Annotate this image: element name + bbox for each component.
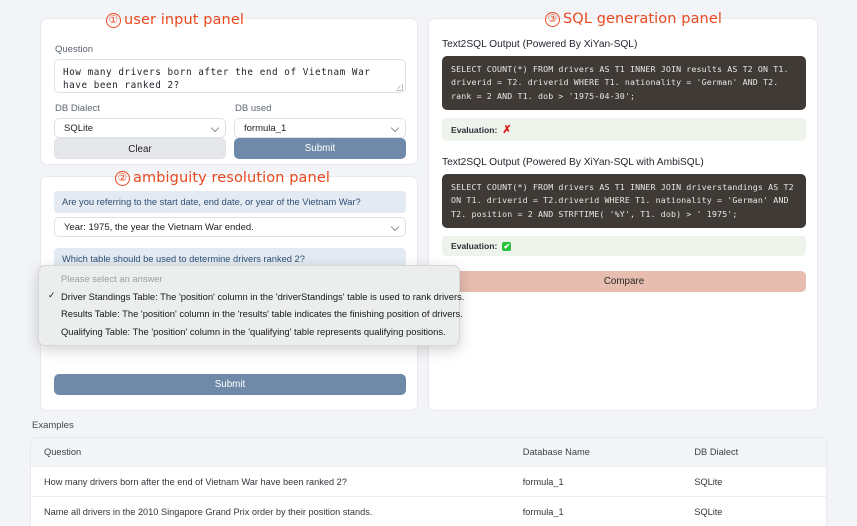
output-2-sql-code: SELECT COUNT(*) FROM drivers AS T1 INNER… [442, 174, 806, 228]
chevron-down-icon [391, 223, 399, 231]
annotation-number-3: ③ [545, 12, 560, 27]
check-mark-icon: ✓ [48, 288, 56, 304]
sql-generation-panel: Text2SQL Output (Powered By XiYan-SQL) S… [428, 18, 818, 411]
app-root: ①user input panel ②ambiguity resolution … [0, 0, 857, 526]
annotation-number-2: ② [115, 171, 130, 186]
output-1-sql-code: SELECT COUNT(*) FROM drivers AS T1 INNER… [442, 56, 806, 110]
question-input[interactable]: How many drivers born after the end of V… [54, 59, 406, 93]
db-used-select[interactable]: formula_1 [234, 118, 406, 138]
ambiguity-answer-1-select[interactable]: Year: 1975, the year the Vietnam War end… [54, 217, 406, 237]
dropdown-option-results[interactable]: Results Table: The 'position' column in … [39, 305, 459, 323]
check-icon: ✔ [502, 242, 511, 251]
examples-table: Question Database Name DB Dialect How ma… [30, 437, 827, 526]
user-input-panel: Question How many drivers born after the… [40, 18, 418, 165]
cell-database: formula_1 [510, 477, 682, 487]
compare-button[interactable]: Compare [442, 271, 806, 292]
dropdown-option-label: Results Table: The 'position' column in … [61, 308, 463, 319]
ambiguity-answer-1-value: Year: 1975, the year the Vietnam War end… [64, 222, 254, 233]
db-used-value: formula_1 [244, 123, 286, 134]
ambiguity-answer-2-dropdown[interactable]: Please select an answer ✓ Driver Standin… [38, 265, 460, 346]
question-input-value: How many drivers born after the end of V… [63, 67, 370, 91]
dropdown-option-label: Driver Standings Table: The 'position' c… [61, 291, 464, 302]
question-label: Question [55, 44, 406, 55]
cross-icon: ✗ [502, 123, 511, 136]
db-used-label: DB used [235, 103, 406, 114]
output-1-title: Text2SQL Output (Powered By XiYan-SQL) [442, 39, 806, 50]
ambiguity-submit-button[interactable]: Submit [54, 374, 406, 395]
cell-question: Name all drivers in the 2010 Singapore G… [31, 507, 510, 517]
table-header-row: Question Database Name DB Dialect [31, 438, 826, 467]
output-1-evaluation-label: Evaluation: [451, 125, 497, 135]
column-header-question: Question [31, 447, 510, 457]
resize-handle-icon[interactable] [396, 84, 403, 91]
db-dialect-select[interactable]: SQLite [54, 118, 226, 138]
output-1-evaluation: Evaluation: ✗ [442, 118, 806, 141]
cell-database: formula_1 [510, 507, 682, 517]
cell-question: How many drivers born after the end of V… [31, 477, 510, 487]
table-row[interactable]: How many drivers born after the end of V… [31, 467, 826, 497]
annotation-text-1: user input panel [124, 12, 244, 28]
annotation-ambiguity-panel: ②ambiguity resolution panel [115, 170, 330, 186]
annotation-number-1: ① [106, 13, 121, 28]
dropdown-option-driver-standings[interactable]: ✓ Driver Standings Table: The 'position'… [39, 288, 459, 306]
chevron-down-icon [211, 124, 219, 132]
annotation-text-3: SQL generation panel [563, 11, 722, 27]
annotation-text-2: ambiguity resolution panel [133, 170, 330, 186]
ambiguity-question-1: Are you referring to the start date, end… [54, 191, 406, 213]
annotation-sql-panel: ③SQL generation panel [545, 11, 722, 27]
cell-dialect: SQLite [681, 477, 826, 487]
table-row[interactable]: Name all drivers in the 2010 Singapore G… [31, 497, 826, 526]
examples-label: Examples [32, 420, 827, 431]
chevron-down-icon [391, 124, 399, 132]
output-2-evaluation-label: Evaluation: [451, 241, 497, 251]
dropdown-option-label: Qualifying Table: The 'position' column … [61, 326, 446, 337]
output-2-evaluation: Evaluation: ✔ [442, 236, 806, 256]
column-header-db-dialect: DB Dialect [681, 447, 826, 457]
clear-button[interactable]: Clear [54, 138, 226, 159]
output-2-title: Text2SQL Output (Powered By XiYan-SQL wi… [442, 157, 806, 168]
dropdown-option-qualifying[interactable]: Qualifying Table: The 'position' column … [39, 323, 459, 341]
column-header-database-name: Database Name [510, 447, 682, 457]
examples-section: Examples Question Database Name DB Diale… [30, 420, 827, 526]
db-dialect-label: DB Dialect [55, 103, 226, 114]
cell-dialect: SQLite [681, 507, 826, 517]
annotation-user-input-panel: ①user input panel [106, 12, 244, 28]
submit-button[interactable]: Submit [234, 138, 406, 159]
dropdown-placeholder: Please select an answer [39, 270, 459, 288]
db-dialect-value: SQLite [64, 123, 93, 134]
